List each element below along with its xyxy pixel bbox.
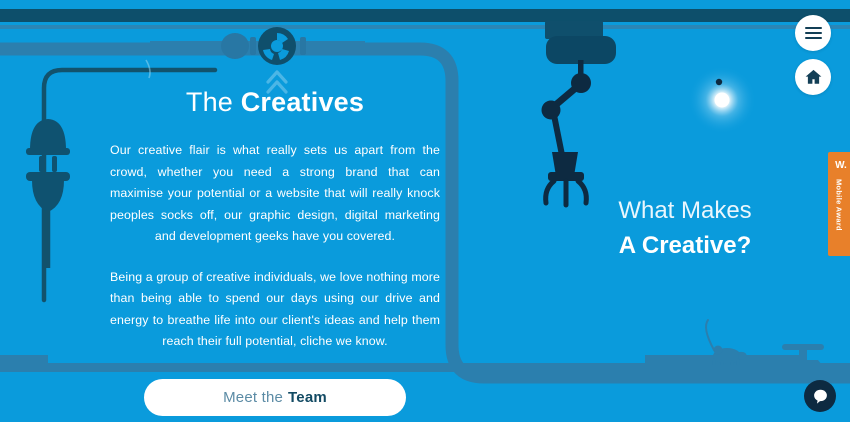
hamburger-menu-icon	[805, 27, 822, 39]
page-title-thin: The	[186, 87, 241, 117]
cta-label-thin: Meet the	[223, 389, 283, 406]
page-root: The Creatives Our creative flair is what…	[0, 0, 850, 422]
paragraph-two: Being a group of creative individuals, w…	[110, 267, 440, 353]
chat-bubble-icon	[812, 388, 829, 405]
glowing-light-bulb	[688, 66, 756, 134]
chat-button[interactable]	[804, 380, 836, 412]
body-copy: Our creative flair is what really sets u…	[110, 140, 440, 353]
cta-wrapper: Meet theTeam	[110, 379, 440, 416]
right-content-panel: What Makes A Creative?	[560, 196, 810, 262]
hamburger-menu-button[interactable]	[795, 15, 831, 51]
award-label-text: Mobile Award	[835, 179, 844, 231]
ceiling-rail	[0, 9, 850, 29]
right-heading-line-one: What Makes	[560, 196, 810, 226]
mobile-award-tab[interactable]: W. Mobile Award	[828, 152, 850, 256]
home-button[interactable]	[795, 59, 831, 95]
left-content-panel: The Creatives Our creative flair is what…	[110, 86, 440, 416]
right-heading-line-two: A Creative?	[560, 230, 810, 262]
page-title: The Creatives	[110, 86, 440, 118]
meet-the-team-button[interactable]: Meet theTeam	[144, 379, 406, 416]
home-icon	[804, 68, 823, 86]
page-title-bold: Creatives	[241, 87, 364, 117]
award-badge-text: W.	[835, 160, 847, 171]
cta-label-bold: Team	[288, 389, 327, 406]
paragraph-one: Our creative flair is what really sets u…	[110, 140, 440, 248]
